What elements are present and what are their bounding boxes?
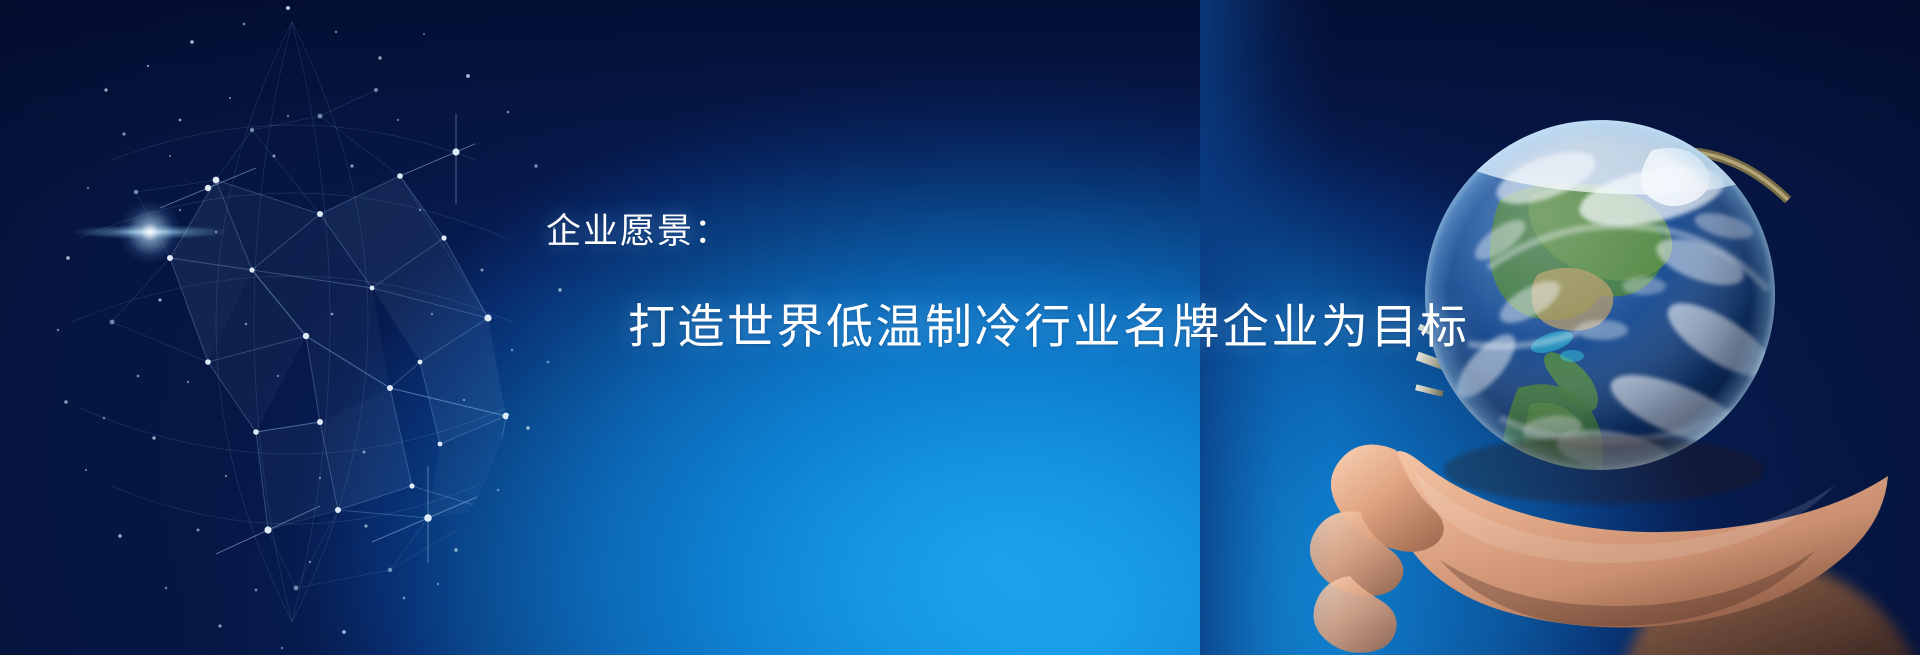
background-vignette	[0, 0, 1920, 655]
vision-banner: 企业愿景： 打造世界低温制冷行业名牌企业为目标	[0, 0, 1920, 655]
